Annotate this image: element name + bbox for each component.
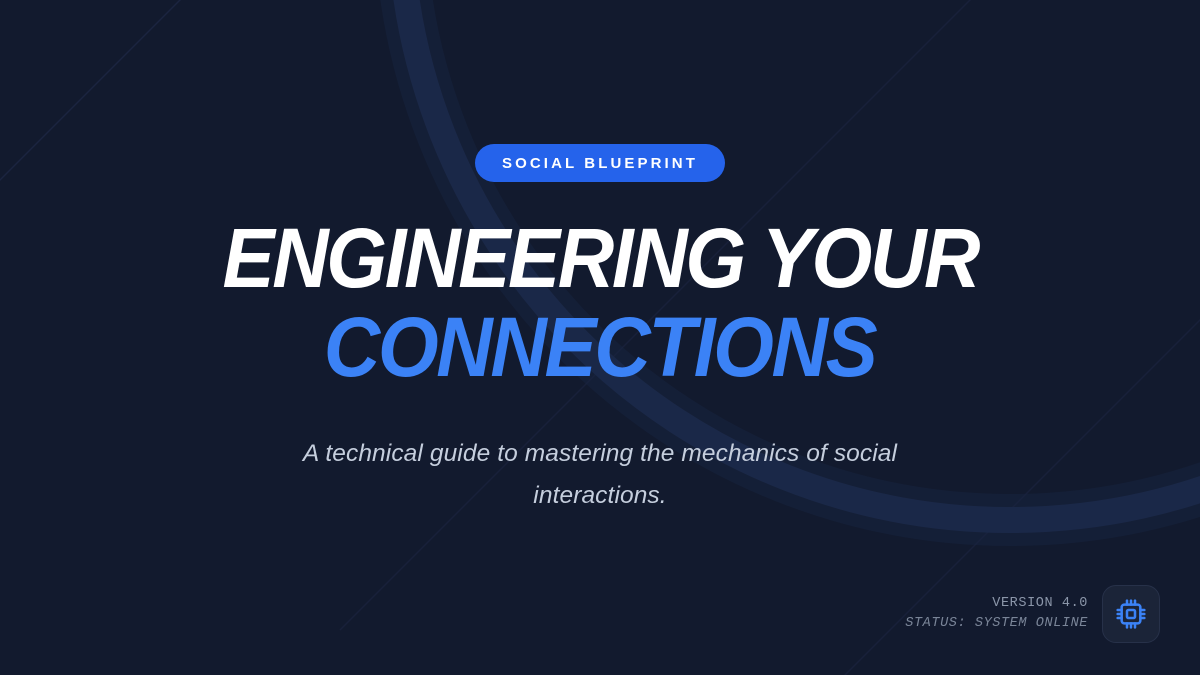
slide-content: SOCIAL BLUEPRINT ENGINEERING YOUR CONNEC… bbox=[0, 0, 1200, 675]
status-text-group: VERSION 4.0 STATUS: SYSTEM ONLINE bbox=[905, 596, 1088, 633]
category-badge[interactable]: SOCIAL BLUEPRINT bbox=[475, 144, 725, 182]
version-label: VERSION 4.0 bbox=[992, 596, 1088, 613]
title-slide: SOCIAL BLUEPRINT ENGINEERING YOUR CONNEC… bbox=[0, 0, 1200, 675]
system-status-label: STATUS: SYSTEM ONLINE bbox=[905, 616, 1088, 633]
chip-icon-tile[interactable] bbox=[1102, 585, 1160, 643]
subtitle-text: A technical guide to mastering the mecha… bbox=[260, 433, 940, 517]
status-bar: VERSION 4.0 STATUS: SYSTEM ONLINE bbox=[905, 585, 1160, 643]
cpu-chip-icon bbox=[1115, 598, 1147, 630]
headline-line-2: CONNECTIONS bbox=[324, 306, 876, 389]
headline-line-1: ENGINEERING YOUR bbox=[222, 217, 978, 300]
